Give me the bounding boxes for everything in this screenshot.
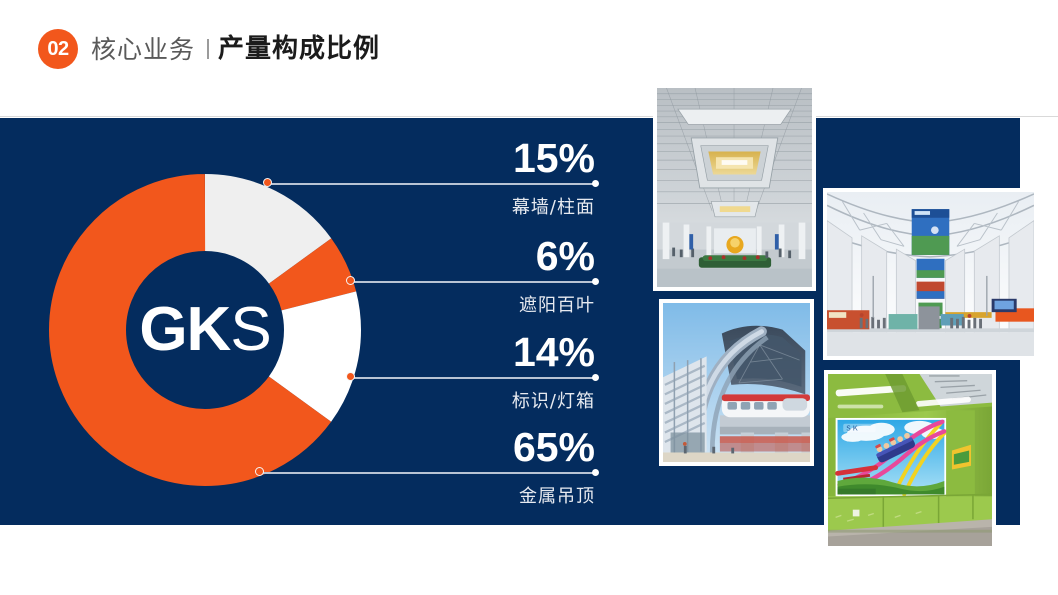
photo-metro-green-wall-lightbox: ＳＫ	[824, 370, 996, 550]
photo-airport-terminal-ceiling	[653, 84, 816, 291]
callout-curtainwall: 15%	[360, 138, 595, 179]
callout-curtainwall-name-wrap: 幕墙/柱面	[360, 190, 595, 217]
callout-signage-name-wrap: 标识/灯箱	[360, 384, 595, 411]
slide-header: 02 核心业务 产量构成比例	[0, 0, 1058, 117]
photo-station-concourse-truss	[823, 188, 1038, 360]
callout-name: 遮阳百叶	[360, 297, 595, 315]
leader-dot-chart-side	[263, 178, 272, 187]
donut-chart: GKS	[48, 173, 362, 487]
photo-inner	[663, 303, 810, 462]
callout-percent: 6%	[360, 236, 595, 277]
leader-dot-chart-side	[255, 467, 264, 476]
leader-dot-chart-side	[346, 372, 355, 381]
photo-inner: ＳＫ	[828, 374, 992, 546]
photo-inner	[827, 192, 1034, 356]
section-number-badge: 02	[38, 29, 78, 69]
callout-name: 幕墙/柱面	[360, 199, 595, 217]
photo-2-art	[827, 192, 1034, 356]
slide-canvas: 02 核心业务 产量构成比例 GKS	[0, 0, 1058, 595]
callout-percent: 15%	[360, 138, 595, 179]
header-subtitle: 核心业务	[91, 37, 195, 62]
photo-3-art	[663, 303, 810, 462]
donut-svg	[48, 173, 362, 487]
callout-signage: 14%	[360, 332, 595, 373]
leader-dot-chart-side	[346, 276, 355, 285]
callout-percent: 14%	[360, 332, 595, 373]
leader-stroke	[260, 472, 595, 474]
leader-stroke	[351, 281, 595, 283]
callout-metalceiling: 65%	[360, 427, 595, 468]
header-bottom-rule	[0, 116, 1058, 117]
photo-4-art: ＳＫ	[828, 374, 992, 546]
callout-name: 金属吊顶	[360, 488, 595, 506]
photo-1-art	[657, 88, 812, 287]
callout-name: 标识/灯箱	[360, 393, 595, 411]
page-title: 产量构成比例	[218, 36, 380, 62]
photo-monorail-station-canopy	[659, 299, 814, 466]
header-inner: 02 核心业务 产量构成比例	[38, 26, 380, 72]
photo-inner	[657, 88, 812, 287]
callout-louver-name-wrap: 遮阳百叶	[360, 288, 595, 315]
leader-stroke	[268, 183, 595, 185]
callout-louver: 6%	[360, 236, 595, 277]
header-divider-bar	[207, 39, 209, 59]
svg-text:ＳＫ: ＳＫ	[845, 425, 858, 432]
callout-metalceiling-name-wrap: 金属吊顶	[360, 479, 595, 506]
callout-percent: 65%	[360, 427, 595, 468]
leader-stroke	[351, 377, 595, 379]
